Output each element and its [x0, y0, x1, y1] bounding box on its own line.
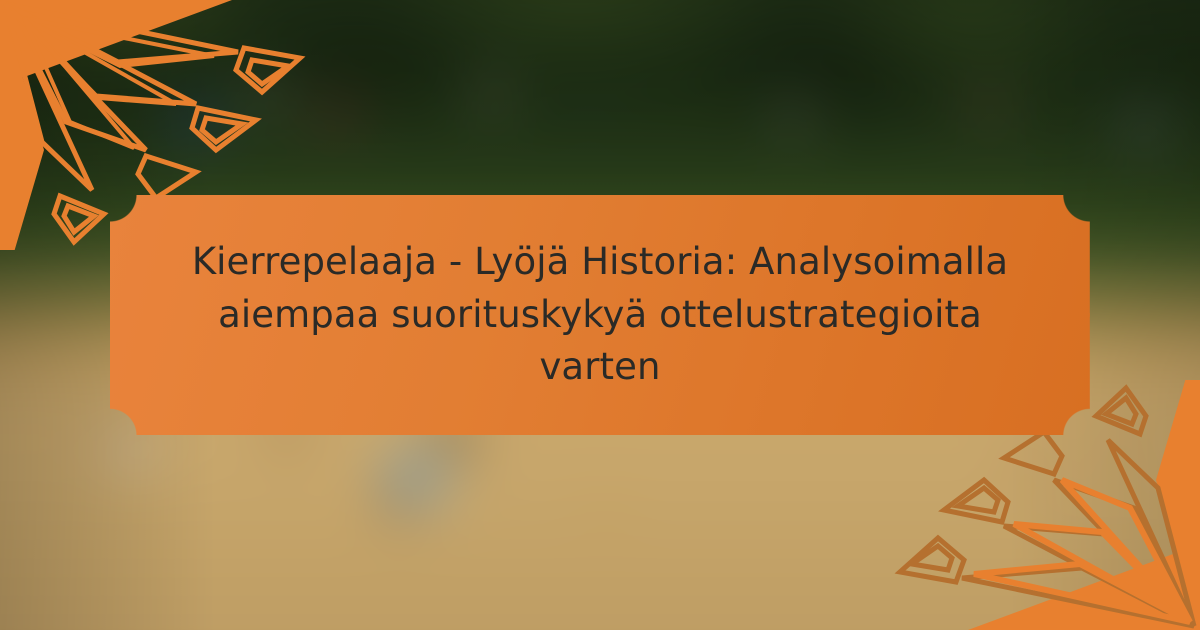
social-card-canvas: Kierrepelaaja - Lyöjä Historia: Analysoi…	[0, 0, 1200, 630]
title-card: Kierrepelaaja - Lyöjä Historia: Analysoi…	[110, 195, 1090, 435]
page-title: Kierrepelaaja - Lyöjä Historia: Analysoi…	[160, 236, 1040, 394]
